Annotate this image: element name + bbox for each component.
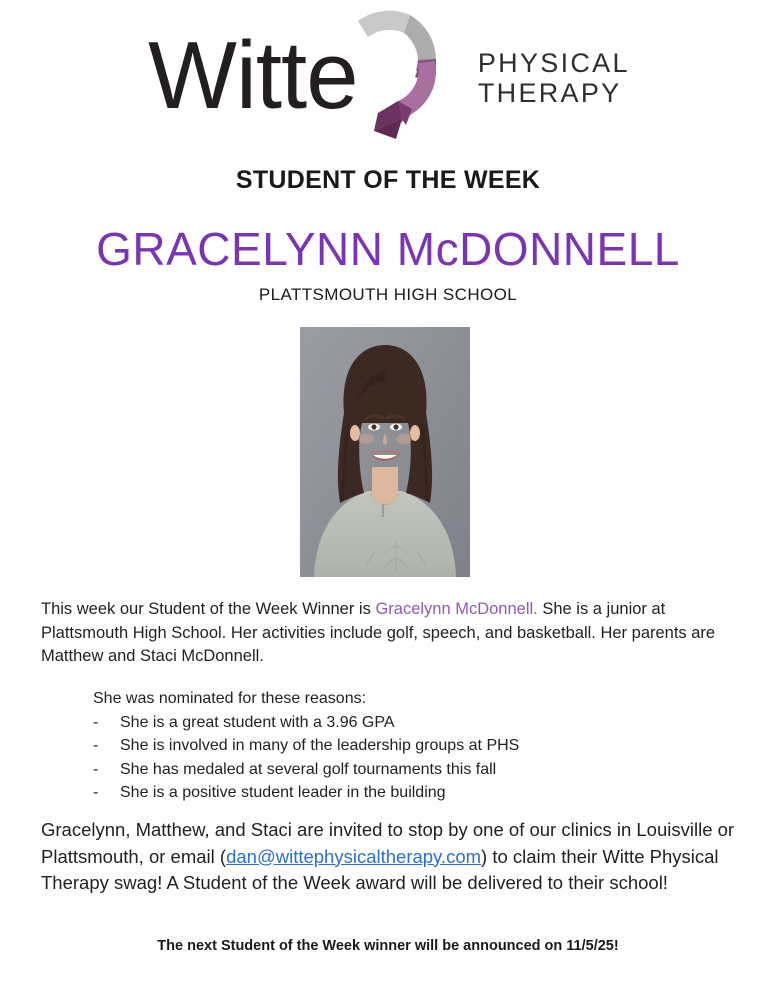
physical-therapy-lockup: PHYSICAL THERAPY <box>478 48 630 108</box>
invitation-paragraph: Gracelynn, Matthew, and Staci are invite… <box>41 817 735 897</box>
student-portrait-photo <box>300 327 470 577</box>
bullet-dash-icon: - <box>93 734 120 758</box>
reasons-heading: She was nominated for these reasons: <box>93 687 713 711</box>
bullet-dash-icon: - <box>93 781 120 805</box>
flyer-page: Witte <box>0 0 776 985</box>
list-item: - She is a great student with a 3.96 GPA <box>93 711 713 735</box>
intro-paragraph: This week our Student of the Week Winner… <box>41 598 735 669</box>
bullet-dash-icon: - <box>93 711 120 735</box>
intro-student-name-highlight: Gracelynn McDonnell. <box>375 600 537 618</box>
list-item: - She has medaled at several golf tourna… <box>93 758 713 782</box>
list-item: - She is involved in many of the leaders… <box>93 734 713 758</box>
list-item: - She is a positive student leader in th… <box>93 781 713 805</box>
nomination-reasons: She was nominated for these reasons: - S… <box>93 687 713 805</box>
reason-text: She has medaled at several golf tourname… <box>120 758 496 782</box>
student-name-heading: GRACELYNN McDONNELL <box>0 222 776 276</box>
award-title: STUDENT OF THE WEEK <box>0 166 776 195</box>
next-winner-note: The next Student of the Week winner will… <box>0 938 776 954</box>
intro-text-part1: This week our Student of the Week Winner… <box>41 600 375 618</box>
lockup-line-physical: PHYSICAL <box>478 48 630 78</box>
lockup-line-therapy: THERAPY <box>478 78 630 108</box>
email-link[interactable]: dan@wittephysicaltherapy.com <box>226 846 481 867</box>
witte-physical-therapy-logo: Witte <box>0 8 776 148</box>
bullet-dash-icon: - <box>93 758 120 782</box>
reason-text: She is a positive student leader in the … <box>120 781 446 805</box>
school-name: PLATTSMOUTH HIGH SCHOOL <box>0 285 776 305</box>
reason-text: She is involved in many of the leadershi… <box>120 734 519 758</box>
logo-lockup: Witte <box>146 9 630 147</box>
reason-text: She is a great student with a 3.96 GPA <box>120 711 395 735</box>
witte-wordmark: Witte <box>148 28 357 124</box>
